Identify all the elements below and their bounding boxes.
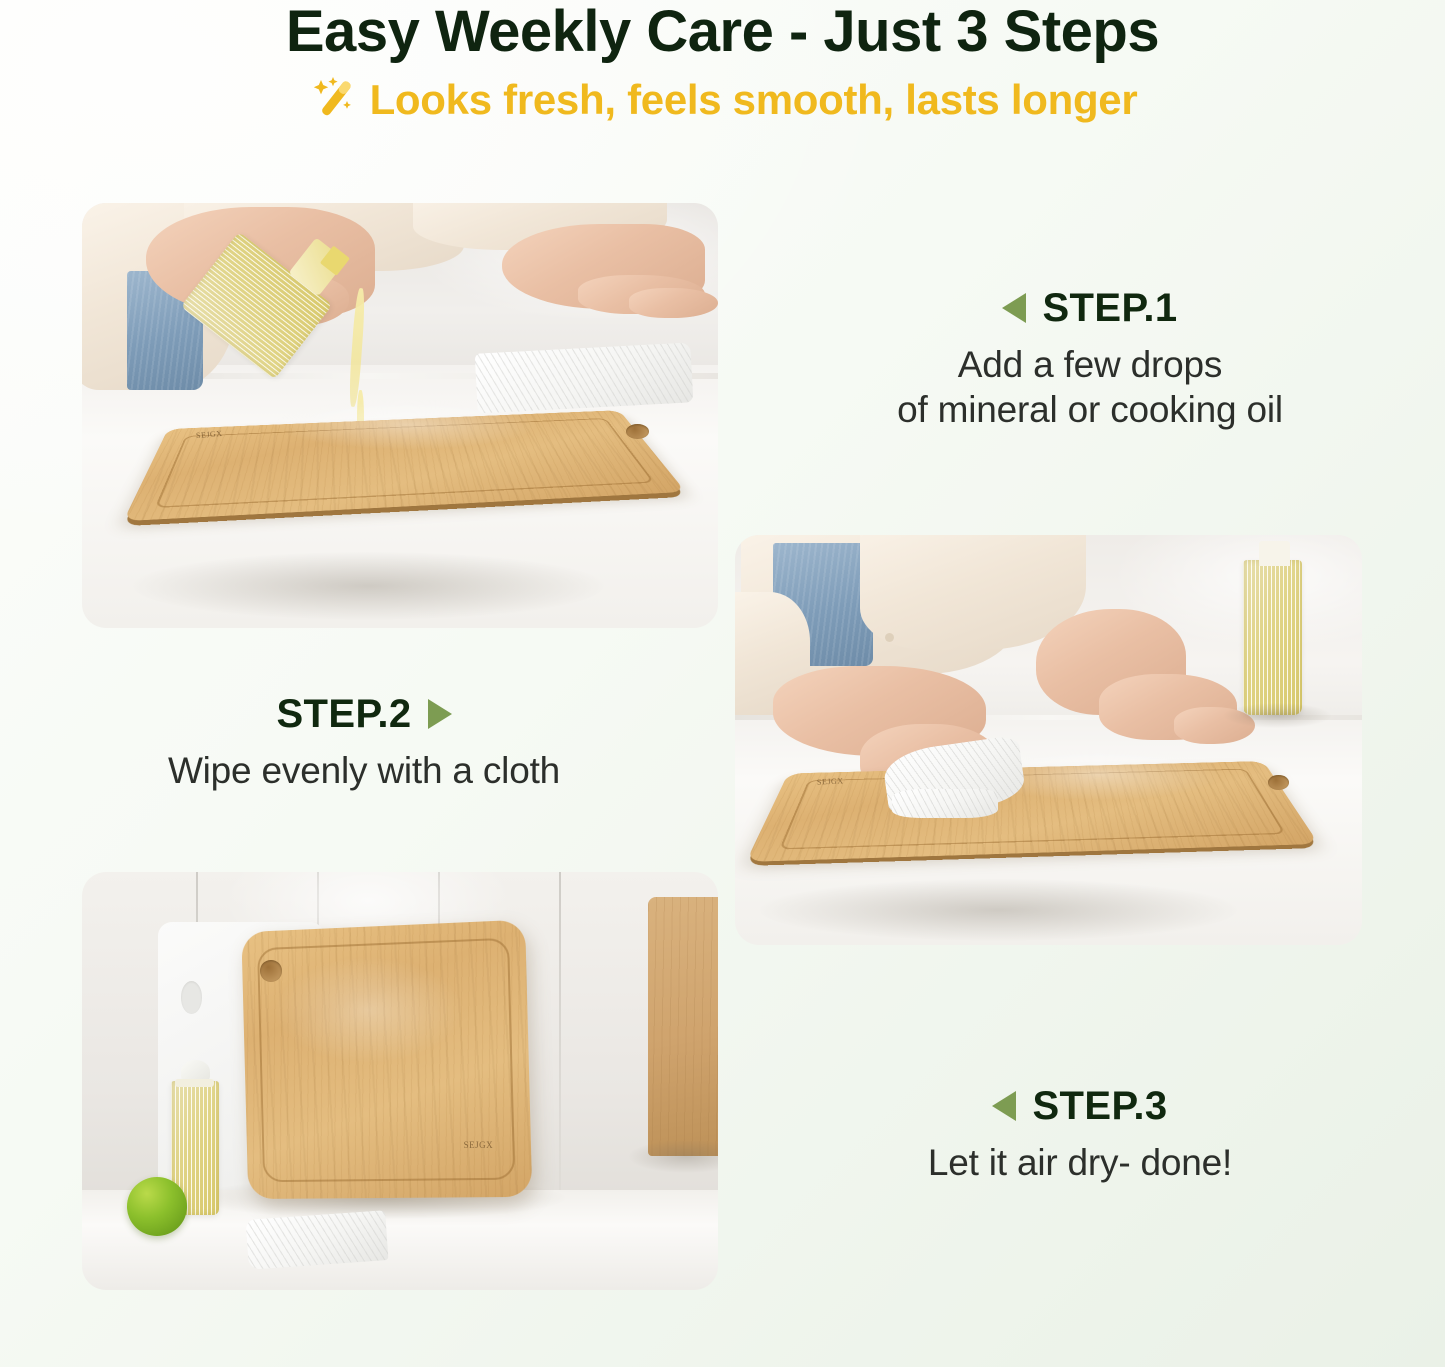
- step-3-caption: STEP.3 Let it air dry- done!: [770, 1086, 1390, 1185]
- step-2-description: Wipe evenly with a cloth: [44, 748, 684, 793]
- photo-board-air-drying-upright: SEJGX: [82, 872, 718, 1290]
- page-subtitle: Looks fresh, feels smooth, lasts longer: [370, 78, 1138, 122]
- step-1-description-line-2: of mineral or cooking oil: [760, 387, 1420, 432]
- step-2-description-line-1: Wipe evenly with a cloth: [44, 748, 684, 793]
- header: Easy Weekly Care - Just 3 Steps Looks fr…: [0, 0, 1445, 126]
- step-1-heading: STEP.1: [760, 288, 1420, 328]
- step-3-label: STEP.3: [1032, 1086, 1167, 1126]
- board-brand-mark: SEJGX: [816, 776, 843, 786]
- step-1-description: Add a few drops of mineral or cooking oi…: [760, 342, 1420, 432]
- subtitle-row: Looks fresh, feels smooth, lasts longer: [0, 74, 1445, 126]
- photo-wiping-board-with-cloth: SEJGX: [735, 535, 1362, 945]
- triangle-left-icon: [1002, 293, 1026, 323]
- page-title: Easy Weekly Care - Just 3 Steps: [0, 0, 1445, 62]
- step-1-description-line-1: Add a few drops: [760, 342, 1420, 387]
- triangle-left-icon: [992, 1091, 1016, 1121]
- step-3-heading: STEP.3: [770, 1086, 1390, 1126]
- infographic-page: Easy Weekly Care - Just 3 Steps Looks fr…: [0, 0, 1445, 1367]
- magic-wand-icon: [308, 74, 360, 126]
- triangle-right-icon: [428, 699, 452, 729]
- step-1-label: STEP.1: [1042, 288, 1177, 328]
- step-2-label: STEP.2: [276, 694, 411, 734]
- step-2-heading: STEP.2: [44, 694, 684, 734]
- step-2-caption: STEP.2 Wipe evenly with a cloth: [44, 694, 684, 793]
- step-1-caption: STEP.1 Add a few drops of mineral or coo…: [760, 288, 1420, 432]
- step-3-description: Let it air dry- done!: [770, 1140, 1390, 1185]
- photo-pouring-oil-on-board: SEJGX: [82, 203, 718, 628]
- board-brand-mark: SEJGX: [464, 1140, 494, 1150]
- step-3-description-line-1: Let it air dry- done!: [770, 1140, 1390, 1185]
